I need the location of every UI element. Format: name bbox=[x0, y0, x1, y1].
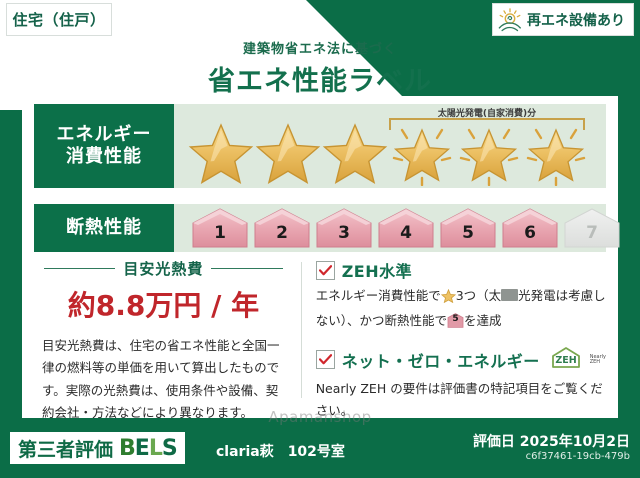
utility-cost-heading: 目安光熱費 bbox=[34, 258, 293, 279]
bels-logo: 第三者評価 BELS bbox=[10, 432, 185, 464]
renewable-equipment-label: 再エネ設備あり bbox=[527, 10, 625, 30]
insulation-level-house: 6 bbox=[500, 207, 560, 249]
star-filled bbox=[322, 116, 388, 186]
zeh-desc-pre: エネルギー消費性能で bbox=[316, 288, 441, 303]
insulation-performance-value-box: 1 2 3 4 bbox=[174, 204, 606, 252]
redacted-block bbox=[501, 289, 518, 301]
zeh-logo-sub2: ZEH bbox=[590, 359, 600, 365]
star-rating bbox=[188, 116, 589, 186]
evaluation-date: 評価日 2025年10月2日 bbox=[473, 431, 630, 451]
insulation-level-house: 3 bbox=[314, 207, 374, 249]
star-solar bbox=[523, 116, 589, 186]
star-filled bbox=[188, 116, 254, 186]
bels-letter-e: E bbox=[135, 436, 149, 461]
insulation-level-number: 6 bbox=[524, 223, 536, 249]
insulation-performance-row: 断熱性能 1 bbox=[34, 204, 606, 252]
renewable-equipment-badge: 再エネ設備あり bbox=[492, 3, 634, 36]
sun-icon bbox=[497, 8, 523, 32]
insulation-performance-label-box: 断熱性能 bbox=[34, 204, 174, 252]
energy-performance-value-box: 太陽光発電(自家消費)分 bbox=[174, 104, 606, 188]
unit-name: claria萩 102号室 bbox=[216, 441, 345, 461]
bels-jp-label: 第三者評価 bbox=[18, 435, 113, 462]
energy-performance-label-box: エネルギー 消費性能 bbox=[34, 104, 174, 188]
zeh-standard-heading: ZEH水準 bbox=[316, 258, 606, 282]
star-solar bbox=[389, 116, 455, 186]
zeh-desc-end: を達成 bbox=[464, 313, 502, 328]
vertical-divider bbox=[301, 262, 302, 398]
insulation-label: 断熱性能 bbox=[66, 217, 142, 239]
mini-house-badge: 5 bbox=[447, 313, 464, 328]
svg-text:ZEH: ZEH bbox=[555, 355, 576, 366]
zeh-standard-title: ZEH水準 bbox=[342, 258, 412, 282]
insulation-level-house: 1 bbox=[190, 207, 250, 249]
utility-cost-title: 目安光熱費 bbox=[123, 258, 203, 279]
lower-section: 目安光熱費 約8.8万円 / 年 目安光熱費は、住宅の省エネ性能と全国一律の燃料… bbox=[34, 258, 606, 408]
mini-house-number: 5 bbox=[447, 312, 464, 328]
insulation-level-house-inactive: 7 bbox=[562, 207, 622, 249]
label-heading: 建築物省エネ法に基づく 省エネ性能ラベル bbox=[0, 38, 640, 98]
star-solar bbox=[456, 116, 522, 186]
insulation-level-scale: 1 2 3 4 bbox=[190, 207, 622, 249]
bels-en-label: BELS bbox=[119, 436, 177, 461]
energy-performance-row: エネルギー 消費性能 太陽光発電(自家消費)分 bbox=[34, 104, 606, 188]
insulation-level-number: 3 bbox=[338, 223, 350, 249]
check-icon bbox=[316, 350, 335, 369]
housing-type-label: 住宅（住戸） bbox=[12, 9, 105, 30]
footer-bar: 第三者評価 BELS claria萩 102号室 評価日 2025年10月2日 … bbox=[0, 422, 640, 478]
zeh-desc-mid: 3つ（太 bbox=[456, 288, 501, 303]
zeh-logo-icon: ZEH bbox=[550, 346, 582, 374]
insulation-level-number: 4 bbox=[400, 223, 412, 249]
heading-title: 省エネ性能ラベル bbox=[0, 59, 640, 98]
net-zero-energy-description: Nearly ZEH の要件は評価書の特記項目をご覧ください。 bbox=[316, 378, 606, 422]
rule-left bbox=[44, 268, 115, 269]
star-filled bbox=[255, 116, 321, 186]
utility-cost-value: 約8.8万円 / 年 bbox=[34, 284, 293, 324]
evaluation-id: c6f37461-19cb-479b bbox=[526, 451, 630, 462]
utility-cost-note: 目安光熱費は、住宅の省エネ性能と全国一律の燃料等の単価を用いて算出したものです。… bbox=[34, 335, 293, 424]
net-zero-energy-heading: ネット・ゼロ・エネルギー ZEH Nearly ZEH bbox=[316, 346, 606, 374]
rule-right bbox=[211, 268, 282, 269]
insulation-level-number: 1 bbox=[214, 223, 226, 249]
energy-label-line1: エネルギー bbox=[57, 124, 152, 146]
heading-subtitle: 建築物省エネ法に基づく bbox=[0, 38, 640, 57]
bels-letter-l: L bbox=[149, 436, 162, 461]
insulation-level-number: 2 bbox=[276, 223, 288, 249]
insulation-level-house: 2 bbox=[252, 207, 312, 249]
check-icon bbox=[316, 261, 335, 280]
bels-letter-s: S bbox=[162, 436, 177, 461]
net-zero-energy-title: ネット・ゼロ・エネルギー bbox=[342, 348, 540, 372]
zeh-logo-subtext: Nearly ZEH bbox=[590, 355, 606, 366]
housing-type-badge: 住宅（住戸） bbox=[6, 3, 112, 36]
energy-label-line2: 消費性能 bbox=[66, 146, 142, 168]
zeh-block: ZEH水準 エネルギー消費性能で 3つ（太光発電は考慮しない）、かつ断熱性能で … bbox=[316, 258, 606, 408]
insulation-level-house: 5 bbox=[438, 207, 498, 249]
zeh-standard-description: エネルギー消費性能で 3つ（太光発電は考慮しない）、かつ断熱性能で 5 を達成 bbox=[316, 285, 606, 332]
utility-cost-block: 目安光熱費 約8.8万円 / 年 目安光熱費は、住宅の省エネ性能と全国一律の燃料… bbox=[34, 258, 293, 408]
insulation-level-number: 5 bbox=[462, 223, 474, 249]
zeh-desc-mid3: 光発電 bbox=[518, 288, 556, 303]
insulation-level-number: 7 bbox=[586, 223, 598, 249]
bels-letter-b: B bbox=[119, 436, 135, 461]
mini-star-icon bbox=[441, 288, 456, 310]
energy-performance-label: 住宅（住戸） 再エネ設備あり 建築物省エネ法に基づく 省エネ性能ラベル bbox=[0, 0, 640, 478]
insulation-level-house: 4 bbox=[376, 207, 436, 249]
